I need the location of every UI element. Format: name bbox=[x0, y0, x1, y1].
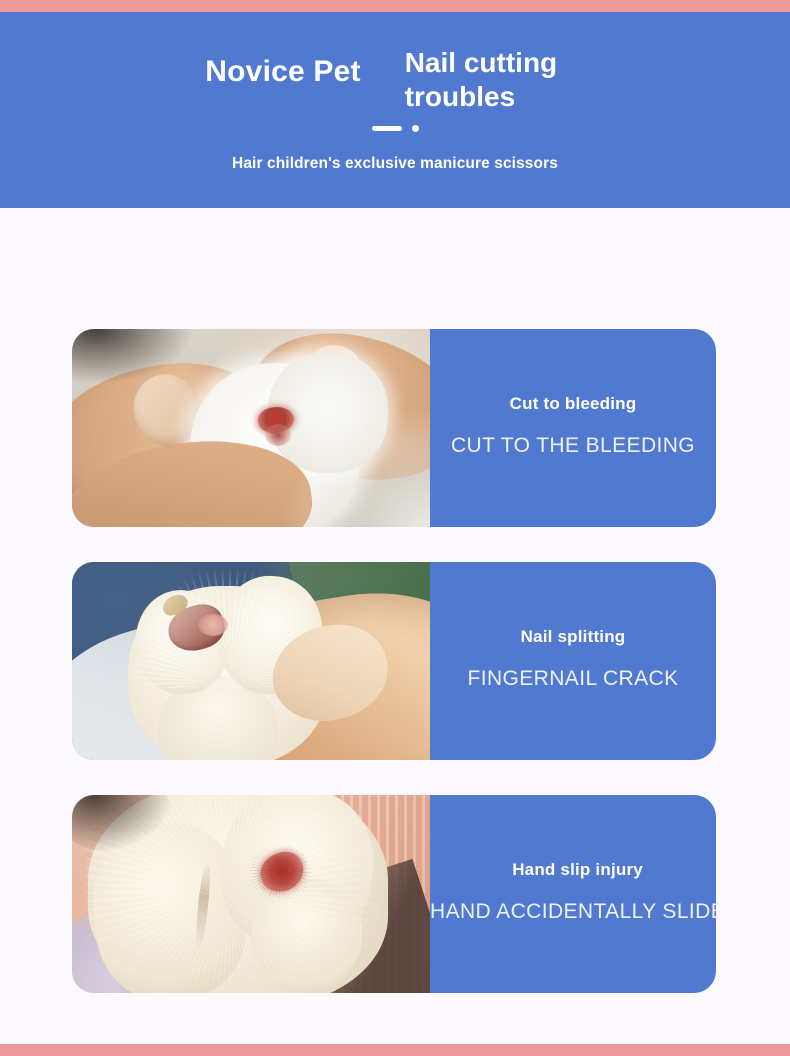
problem-card[interactable]: Nail splitting FINGERNAIL CRACK bbox=[72, 562, 716, 760]
problem-card[interactable]: Cut to bleeding CUT TO THE BLEEDING bbox=[72, 329, 716, 527]
card-subheading: CUT TO THE BLEEDING bbox=[451, 434, 695, 458]
header-title-group: Novice Pet Nail cutting troubles bbox=[0, 46, 790, 114]
card-subheading: FINGERNAIL CRACK bbox=[468, 667, 679, 691]
top-accent-bar bbox=[0, 0, 790, 12]
card-photo-nail-splitting bbox=[72, 562, 430, 760]
page-title-secondary: Nail cutting troubles bbox=[405, 46, 585, 114]
card-photo-hand-slip-injury bbox=[72, 795, 430, 993]
card-heading: Cut to bleeding bbox=[510, 394, 637, 414]
card-heading: Nail splitting bbox=[521, 627, 626, 647]
bottom-accent-bar bbox=[0, 1044, 790, 1056]
card-heading: Hand slip injury bbox=[512, 860, 643, 880]
card-text-panel: Nail splitting FINGERNAIL CRACK bbox=[430, 562, 716, 760]
header-subtitle: Hair children's exclusive manicure sciss… bbox=[0, 155, 790, 173]
card-photo-cut-to-bleeding bbox=[72, 329, 430, 527]
card-subheading: HAND ACCIDENTALLY SLIDE bbox=[430, 900, 716, 924]
dash-icon bbox=[372, 126, 402, 131]
card-text-panel: Cut to bleeding CUT TO THE BLEEDING bbox=[430, 329, 716, 527]
dot-icon bbox=[412, 125, 419, 132]
problem-card[interactable]: Hand slip injury HAND ACCIDENTALLY SLIDE bbox=[72, 795, 716, 993]
dash-dot-decoration bbox=[372, 125, 419, 132]
card-text-panel: Hand slip injury HAND ACCIDENTALLY SLIDE bbox=[430, 795, 716, 993]
page-title-primary: Novice Pet bbox=[205, 46, 360, 91]
header-banner: Novice Pet Nail cutting troubles Hair ch… bbox=[0, 12, 790, 208]
